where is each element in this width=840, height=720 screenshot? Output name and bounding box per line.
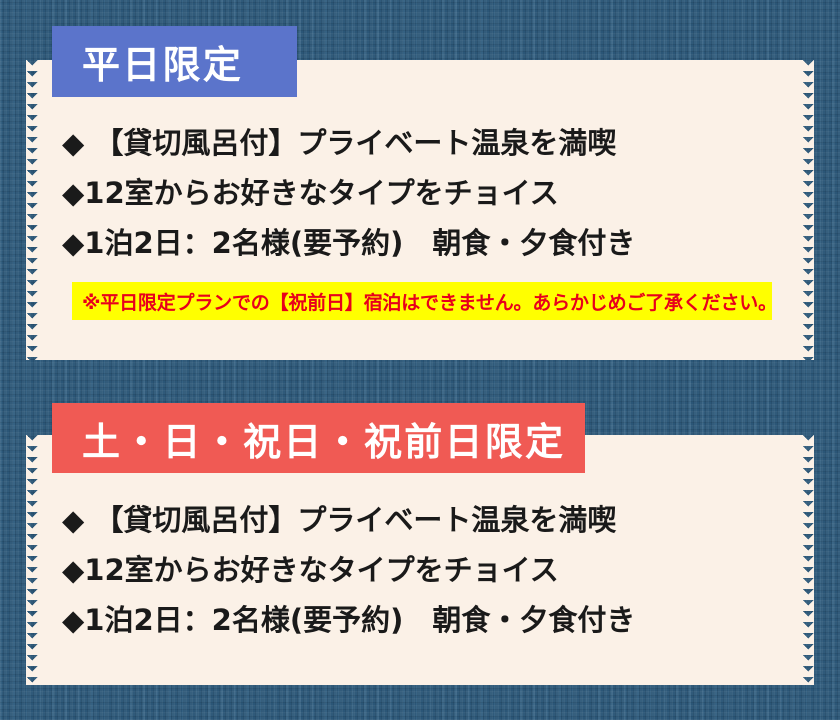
weekend-bullet-list: ◆ 【貸切風呂付】プライベート温泉を満喫 ◆12室からお好きなタイプをチョイス … <box>0 495 840 645</box>
list-item: ◆12室からお好きなタイプをチョイス <box>62 545 840 595</box>
weekend-badge-label: 土・日・祝日・祝前日限定 <box>82 411 565 466</box>
weekday-badge-label: 平日限定 <box>82 34 243 89</box>
weekend-badge: 土・日・祝日・祝前日限定 <box>52 403 585 473</box>
weekday-caution-text: ※平日限定プランでの【祝前日】宿泊はできません。あらかじめご了承ください。 <box>82 288 777 315</box>
weekday-badge: 平日限定 <box>52 26 297 97</box>
promo-banner: 平日限定 ◆ 【貸切風呂付】プライベート温泉を満喫 ◆12室からお好きなタイプを… <box>0 0 840 720</box>
list-item: ◆1泊2日：2名様(要予約) 朝食・夕食付き <box>62 595 840 645</box>
list-item: ◆1泊2日：2名様(要予約) 朝食・夕食付き <box>62 218 840 268</box>
weekday-bullet-list: ◆ 【貸切風呂付】プライベート温泉を満喫 ◆12室からお好きなタイプをチョイス … <box>0 118 840 268</box>
list-item: ◆ 【貸切風呂付】プライベート温泉を満喫 <box>62 118 840 168</box>
weekday-caution-note: ※平日限定プランでの【祝前日】宿泊はできません。あらかじめご了承ください。 <box>72 282 772 320</box>
list-item: ◆12室からお好きなタイプをチョイス <box>62 168 840 218</box>
list-item: ◆ 【貸切風呂付】プライベート温泉を満喫 <box>62 495 840 545</box>
